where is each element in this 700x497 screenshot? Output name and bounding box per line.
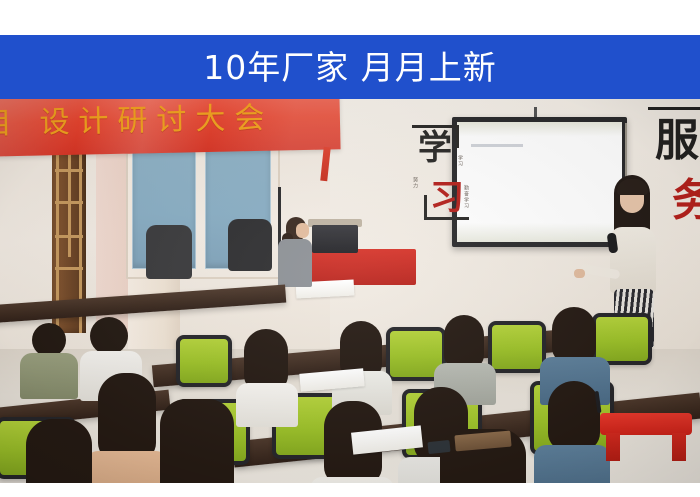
decal-fu-character: 服	[655, 119, 699, 163]
red-event-banner: 目 设计研讨大会	[0, 99, 341, 157]
classroom-photo: 目 设计研讨大会 学 学习 努力 习 勤奋学习 服 务 优质服务	[0, 99, 700, 483]
office-chair-back-left	[146, 225, 192, 279]
bottom-white-margin	[0, 483, 700, 497]
operator-person	[276, 217, 316, 287]
laptop-screen	[312, 225, 358, 253]
promo-banner-text: 10年厂家 月月上新	[203, 51, 496, 84]
office-chair-back-right	[228, 219, 272, 271]
promotional-product-image: 10年厂家 月月上新	[0, 0, 700, 497]
red-plastic-stool	[600, 413, 692, 459]
decal-subtext-2: 努力	[412, 177, 419, 189]
promo-banner: 10年厂家 月月上新	[0, 35, 700, 99]
decal-subtext-1: 学习	[457, 155, 464, 167]
top-white-margin	[0, 0, 700, 35]
decal-xue-character: 学	[418, 131, 452, 165]
phone	[427, 440, 450, 454]
decal-wu-character: 务	[672, 179, 700, 223]
decal-bracket-bottom	[424, 195, 469, 220]
